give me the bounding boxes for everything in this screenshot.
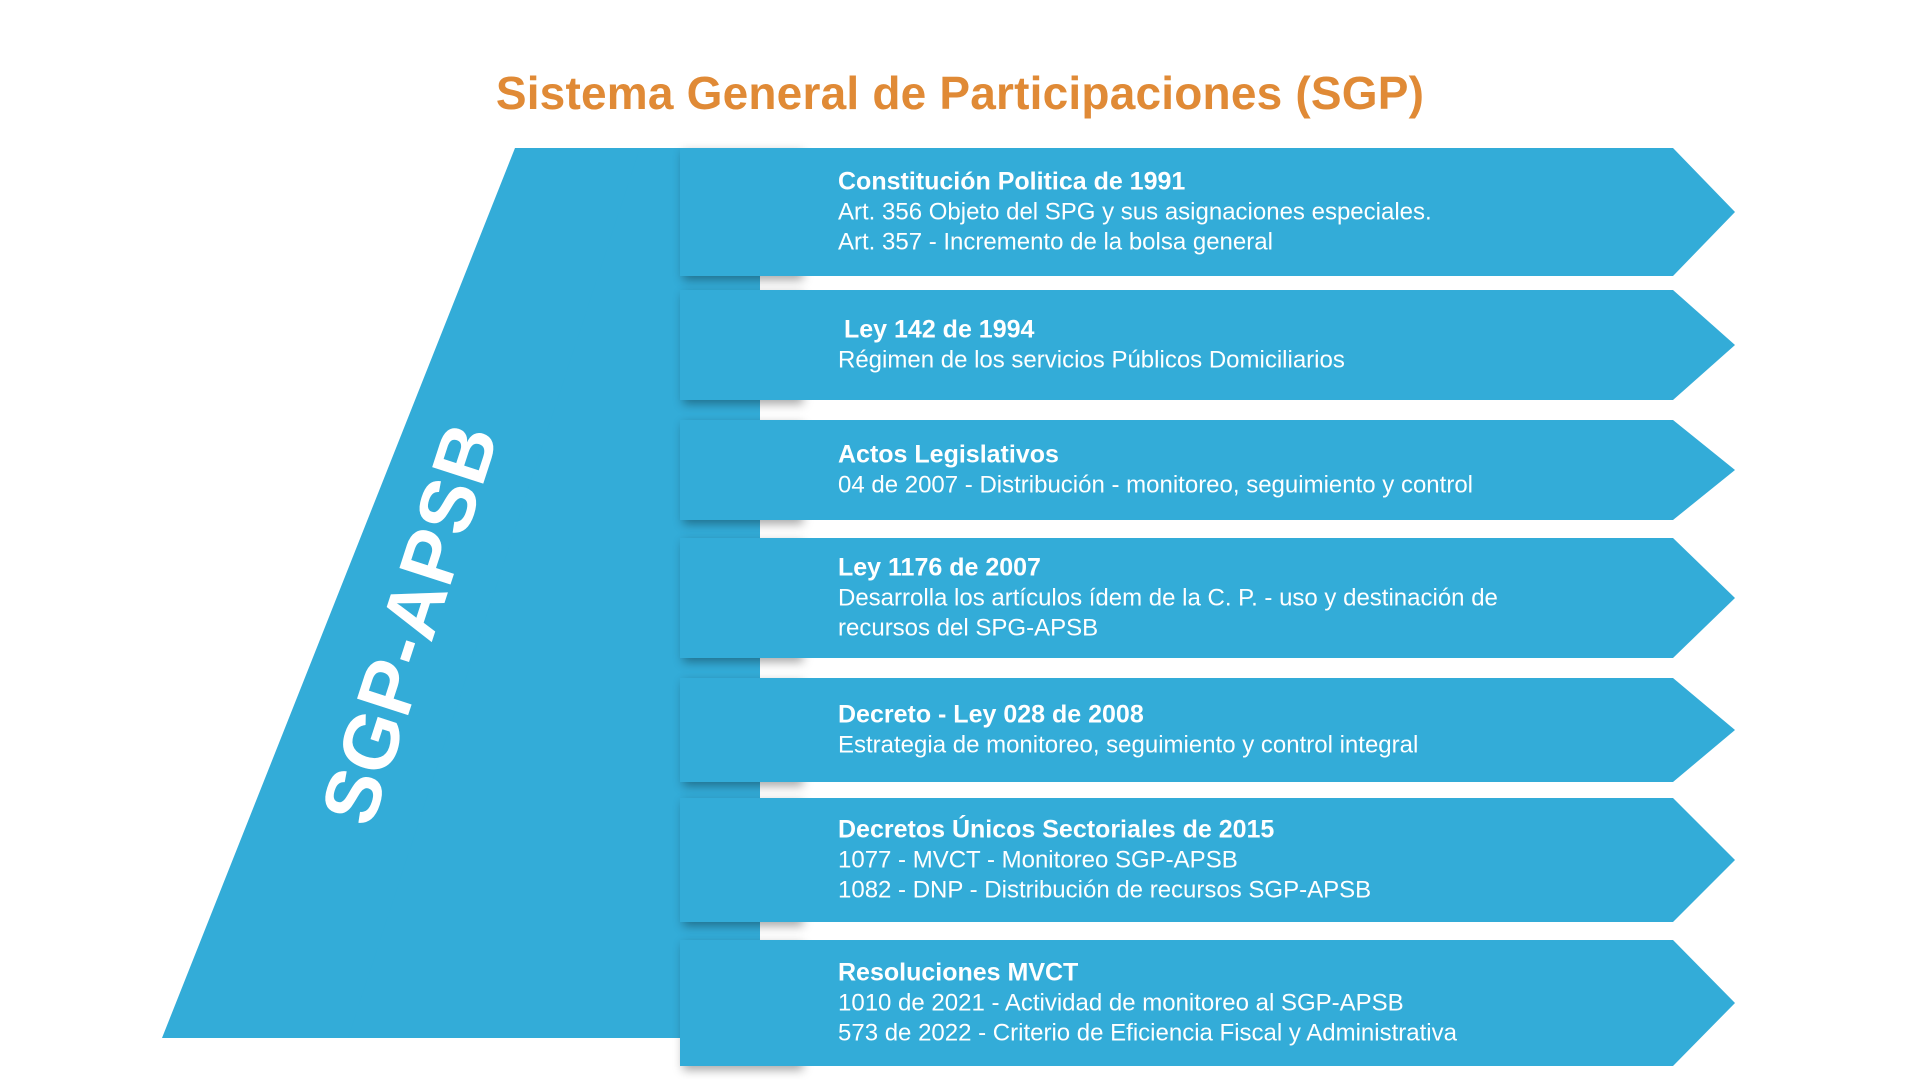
banner-heading: Actos Legislativos bbox=[838, 440, 1645, 471]
banner-line: 1077 - MVCT - Monitoreo SGP-APSB bbox=[838, 845, 1645, 875]
banner-line: Desarrolla los artículos ídem de la C. P… bbox=[838, 583, 1645, 613]
banner-row[interactable]: Decretos Únicos Sectoriales de 20151077 … bbox=[0, 798, 1920, 922]
banner-row[interactable]: Decreto - Ley 028 de 2008Estrategia de m… bbox=[0, 678, 1920, 782]
banner-text-block: Ley 142 de 1994Régimen de los servicios … bbox=[838, 315, 1645, 376]
banner-row[interactable]: Ley 1176 de 2007Desarrolla los artículos… bbox=[0, 538, 1920, 658]
banner-line: 04 de 2007 - Distribución - monitoreo, s… bbox=[838, 470, 1645, 500]
banner-heading: Constitución Politica de 1991 bbox=[838, 167, 1645, 198]
banner-line: recursos del SPG-APSB bbox=[838, 613, 1645, 643]
banner-row[interactable]: Actos Legislativos04 de 2007 - Distribuc… bbox=[0, 420, 1920, 520]
banner-line: Art. 356 Objeto del SPG y sus asignacion… bbox=[838, 197, 1645, 227]
banner-arrow[interactable]: Decretos Únicos Sectoriales de 20151077 … bbox=[760, 798, 1735, 922]
banner-heading: Decreto - Ley 028 de 2008 bbox=[838, 700, 1645, 731]
banner-line: Art. 357 - Incremento de la bolsa genera… bbox=[838, 227, 1645, 257]
banner-text-block: Ley 1176 de 2007Desarrolla los artículos… bbox=[838, 553, 1645, 644]
banner-row[interactable]: Ley 142 de 1994Régimen de los servicios … bbox=[0, 290, 1920, 400]
banner-line: Régimen de los servicios Públicos Domici… bbox=[838, 345, 1645, 375]
banner-line: 1010 de 2021 - Actividad de monitoreo al… bbox=[838, 988, 1645, 1018]
banner-text-block: Decreto - Ley 028 de 2008Estrategia de m… bbox=[838, 700, 1645, 761]
banner-line: 573 de 2022 - Criterio de Eficiencia Fis… bbox=[838, 1018, 1645, 1048]
banner-arrow[interactable]: Resoluciones MVCT1010 de 2021 - Activida… bbox=[760, 940, 1735, 1066]
banner-arrow[interactable]: Actos Legislativos04 de 2007 - Distribuc… bbox=[760, 420, 1735, 520]
banner-list: Constitución Politica de 1991Art. 356 Ob… bbox=[0, 0, 1920, 1080]
banner-line: Estrategia de monitoreo, seguimiento y c… bbox=[838, 730, 1645, 760]
banner-row[interactable]: Resoluciones MVCT1010 de 2021 - Activida… bbox=[0, 940, 1920, 1066]
banner-heading: Resoluciones MVCT bbox=[838, 958, 1645, 989]
banner-arrow[interactable]: Ley 1176 de 2007Desarrolla los artículos… bbox=[760, 538, 1735, 658]
banner-heading: Decretos Únicos Sectoriales de 2015 bbox=[838, 815, 1645, 846]
banner-text-block: Actos Legislativos04 de 2007 - Distribuc… bbox=[838, 440, 1645, 501]
infographic-canvas: Sistema General de Participaciones (SGP)… bbox=[0, 0, 1920, 1080]
banner-text-block: Constitución Politica de 1991Art. 356 Ob… bbox=[838, 167, 1645, 258]
banner-text-block: Decretos Únicos Sectoriales de 20151077 … bbox=[838, 815, 1645, 906]
banner-arrow[interactable]: Ley 142 de 1994Régimen de los servicios … bbox=[760, 290, 1735, 400]
banner-arrow[interactable]: Decreto - Ley 028 de 2008Estrategia de m… bbox=[760, 678, 1735, 782]
banner-row[interactable]: Constitución Politica de 1991Art. 356 Ob… bbox=[0, 148, 1920, 276]
banner-arrow[interactable]: Constitución Politica de 1991Art. 356 Ob… bbox=[760, 148, 1735, 276]
banner-text-block: Resoluciones MVCT1010 de 2021 - Activida… bbox=[838, 958, 1645, 1049]
banner-line: 1082 - DNP - Distribución de recursos SG… bbox=[838, 875, 1645, 905]
banner-heading: Ley 142 de 1994 bbox=[838, 315, 1645, 346]
banner-heading: Ley 1176 de 2007 bbox=[838, 553, 1645, 584]
